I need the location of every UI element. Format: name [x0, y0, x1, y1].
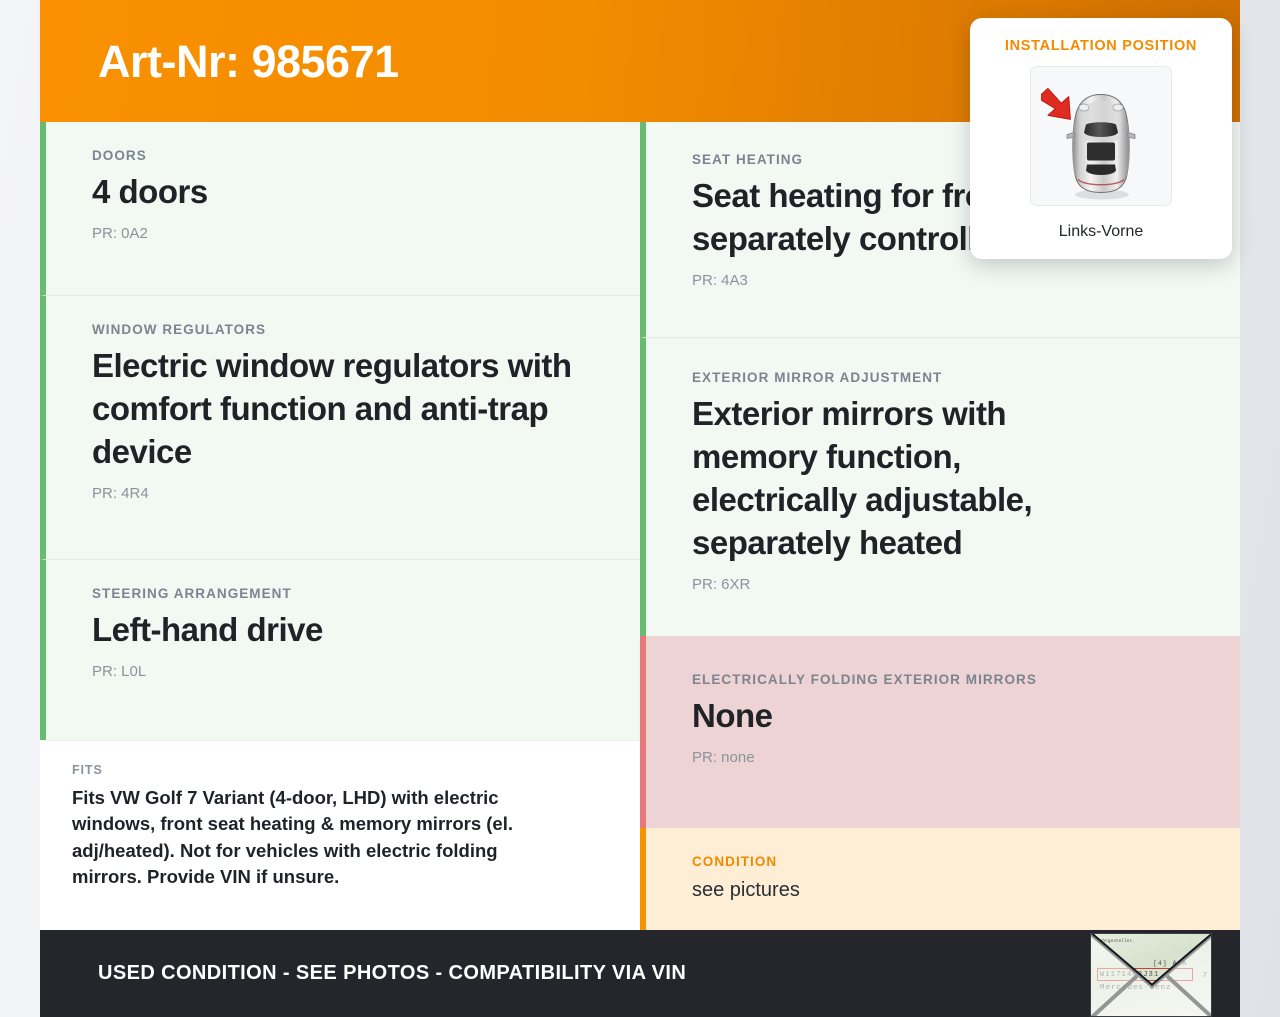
- car-top-view-icon: [1041, 76, 1161, 200]
- spec-card-doors: DOORS 4 doors PR: 0A2: [40, 122, 640, 295]
- fits-label: FITS: [72, 763, 594, 777]
- fits-section: FITS Fits VW Golf 7 Variant (4-door, LHD…: [40, 740, 640, 930]
- spec-card-exterior-mirror-adjustment: EXTERIOR MIRROR ADJUSTMENT Exterior mirr…: [640, 337, 1240, 636]
- spec-label: ELECTRICALLY FOLDING EXTERIOR MIRRORS: [692, 672, 1194, 687]
- spec-pr-code: PR: 6XR: [692, 576, 1194, 593]
- left-column: DOORS 4 doors PR: 0A2 WINDOW REGULATORS …: [40, 122, 640, 930]
- envelope-icon[interactable]: Fahrgestellnr. [4] A1A W1171463J31 7 Mer…: [1090, 933, 1212, 1017]
- product-listing-page: Art-Nr: 985671 DOORS 4 doors PR: 0A2 WIN…: [0, 0, 1280, 1017]
- installation-position-card[interactable]: INSTALLATION POSITION: [970, 18, 1232, 259]
- installation-position-image: [1030, 66, 1172, 206]
- spec-pr-code: PR: 4R4: [92, 485, 594, 502]
- spec-label: EXTERIOR MIRROR ADJUSTMENT: [692, 370, 1194, 385]
- spec-label: STEERING ARRANGEMENT: [92, 586, 594, 601]
- spec-pr-code: PR: 4A3: [692, 272, 1194, 289]
- spec-value: Exterior mirrors with memory function, e…: [692, 393, 1122, 565]
- page-title: Art-Nr: 985671: [98, 39, 399, 84]
- spec-value: None: [692, 695, 1194, 738]
- footer-bar: USED CONDITION - SEE PHOTOS - COMPATIBIL…: [40, 930, 1240, 1017]
- spec-label: WINDOW REGULATORS: [92, 322, 594, 337]
- fits-text: Fits VW Golf 7 Variant (4-door, LHD) wit…: [72, 785, 572, 890]
- condition-label: CONDITION: [692, 854, 1194, 869]
- spec-pr-code: PR: none: [692, 749, 1194, 766]
- spec-value: Electric window regulators with comfort …: [92, 345, 594, 474]
- installation-position-caption: Links-Vorne: [990, 223, 1212, 241]
- spec-card-folding-mirrors: ELECTRICALLY FOLDING EXTERIOR MIRRORS No…: [640, 636, 1240, 828]
- condition-value: see pictures: [692, 877, 1194, 904]
- spec-card-window-regulators: WINDOW REGULATORS Electric window regula…: [40, 295, 640, 559]
- spec-value: Left-hand drive: [92, 609, 594, 652]
- spec-value: 4 doors: [92, 171, 594, 214]
- installation-position-title: INSTALLATION POSITION: [990, 38, 1212, 54]
- envelope-flap-icon: [1091, 934, 1212, 1017]
- footer-text: USED CONDITION - SEE PHOTOS - COMPATIBIL…: [98, 962, 686, 985]
- spec-pr-code: PR: 0A2: [92, 225, 594, 242]
- spec-label: DOORS: [92, 148, 594, 163]
- condition-card: CONDITION see pictures: [640, 828, 1240, 930]
- spec-pr-code: PR: L0L: [92, 663, 594, 680]
- spec-card-steering-arrangement: STEERING ARRANGEMENT Left-hand drive PR:…: [40, 559, 640, 740]
